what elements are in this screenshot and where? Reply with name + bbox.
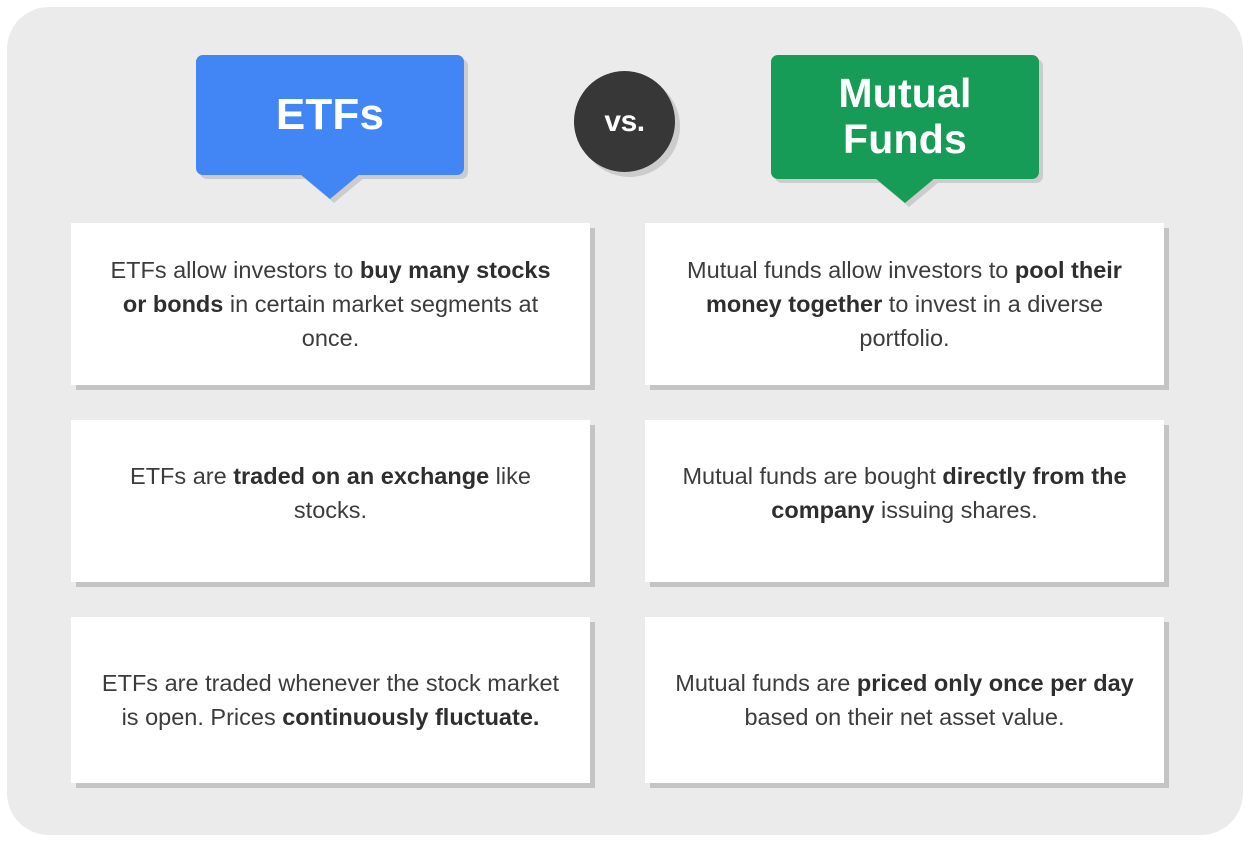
comparison-grid: ETFs allow investors to buy many stocks … <box>71 223 1167 783</box>
mutual-funds-banner: Mutual Funds <box>771 55 1039 179</box>
vs-badge-label: vs. <box>604 105 644 139</box>
card-text: Mutual funds are priced only once per da… <box>675 666 1134 734</box>
card-text: ETFs allow investors to buy many stocks … <box>101 253 560 355</box>
card-mutual-funds-2: Mutual funds are bought directly from th… <box>645 420 1164 582</box>
card-etfs-2: ETFs are traded on an exchange like stoc… <box>71 420 590 582</box>
card-etfs-3: ETFs are traded whenever the stock marke… <box>71 617 590 783</box>
etfs-banner-label: ETFs <box>276 90 384 139</box>
mutual-funds-banner-line1: Mutual <box>838 70 971 116</box>
etfs-banner: ETFs <box>196 55 464 175</box>
mutual-funds-banner-line2: Funds <box>843 116 967 162</box>
card-text: Mutual funds are bought directly from th… <box>675 459 1134 527</box>
card-mutual-funds-1: Mutual funds allow investors to pool the… <box>645 223 1164 385</box>
card-text: Mutual funds allow investors to pool the… <box>675 253 1134 355</box>
card-mutual-funds-3: Mutual funds are priced only once per da… <box>645 617 1164 783</box>
infographic-root: ETFs vs. Mutual Funds ETFs allow investo… <box>0 0 1250 842</box>
mutual-funds-banner-label: Mutual Funds <box>838 71 971 163</box>
vs-badge: vs. <box>574 71 675 172</box>
card-text: ETFs are traded whenever the stock marke… <box>101 666 560 734</box>
card-text: ETFs are traded on an exchange like stoc… <box>101 459 560 527</box>
comparison-header: ETFs vs. Mutual Funds <box>0 0 1236 220</box>
card-etfs-1: ETFs allow investors to buy many stocks … <box>71 223 590 385</box>
